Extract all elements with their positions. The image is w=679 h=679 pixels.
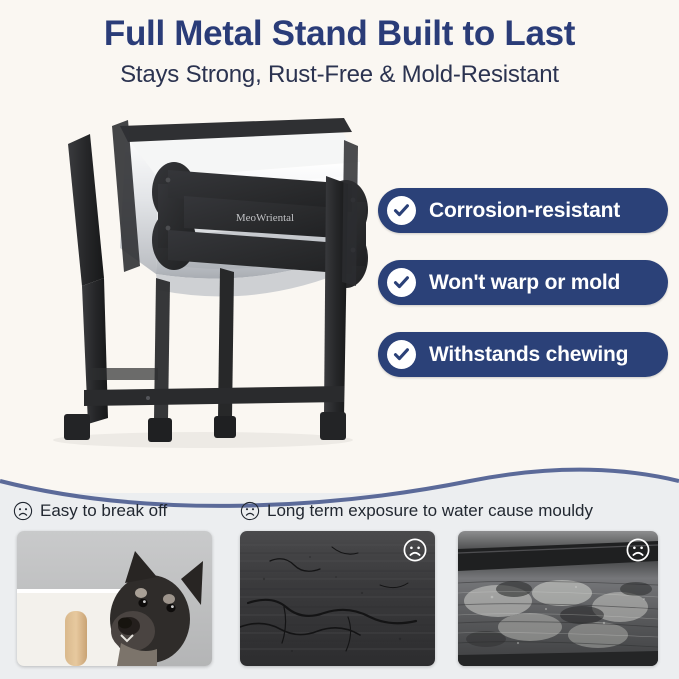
product-brand-label: MeoWriental [236, 212, 294, 224]
check-circle-icon [387, 340, 416, 369]
page-subtitle: Stays Strong, Rust-Free & Mold-Resistant [0, 61, 679, 89]
thumbnail-dog-chewing[interactable] [17, 531, 212, 666]
comparison-label-break-off: Easy to break off [13, 501, 167, 521]
sad-face-badge-icon [403, 538, 427, 562]
sad-face-icon [240, 501, 260, 521]
product-infographic: Full Metal Stand Built to Last Stays Str… [0, 0, 679, 679]
sad-face-badge-icon [626, 538, 650, 562]
product-image: MeoWriental [8, 118, 380, 450]
feature-pill-label: Corrosion-resistant [429, 199, 620, 223]
feature-pill-label: Won't warp or mold [429, 271, 620, 295]
comparison-section: Easy to break off Long term exposure to … [0, 455, 679, 679]
check-circle-icon [387, 268, 416, 297]
comparison-label-mouldy: Long term exposure to water cause mouldy [240, 501, 593, 521]
check-circle-icon [387, 196, 416, 225]
comparison-label-text: Easy to break off [40, 501, 167, 521]
thumbnail-cracked-wood[interactable] [240, 531, 435, 666]
thumbnail-moldy-wood[interactable] [458, 531, 658, 666]
feature-pill-label: Withstands chewing [429, 343, 628, 367]
page-title: Full Metal Stand Built to Last [0, 16, 679, 53]
top-section: Full Metal Stand Built to Last Stays Str… [0, 0, 679, 500]
sad-face-icon [13, 501, 33, 521]
comparison-label-row: Easy to break off Long term exposure to … [0, 501, 679, 531]
comparison-label-text: Long term exposure to water cause mouldy [267, 501, 593, 521]
feature-pill-wont-warp-or-mold[interactable]: Won't warp or mold [378, 260, 668, 305]
comparison-thumbnail-row [0, 531, 679, 671]
feature-pill-corrosion-resistant[interactable]: Corrosion-resistant [378, 188, 668, 233]
feature-pill-withstands-chewing[interactable]: Withstands chewing [378, 332, 668, 377]
feature-pill-list: Corrosion-resistant Won't warp or mold W… [378, 188, 668, 377]
